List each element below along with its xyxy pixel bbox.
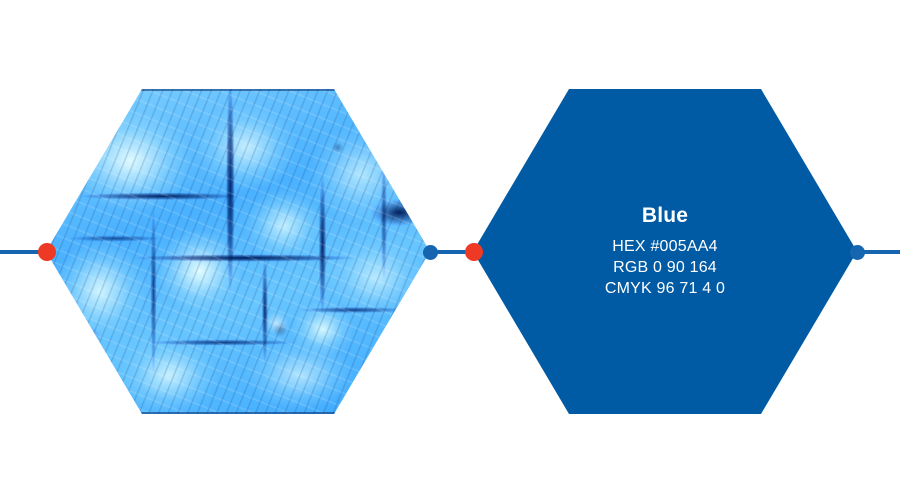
blue-swatch-hexagon[interactable] [473, 89, 857, 414]
color-swatch-canvas: Blue HEX #005AA4 RGB 0 90 164 CMYK 96 71… [0, 0, 900, 504]
swatch-rounded-mask [473, 89, 857, 414]
node-right-blue[interactable] [850, 245, 865, 260]
hexagon-rounded-mask [46, 89, 430, 414]
node-left-red[interactable] [38, 243, 56, 261]
node-mid-blue[interactable] [423, 245, 438, 260]
node-mid-red[interactable] [465, 243, 483, 261]
bubble-foam-hexagon[interactable] [46, 89, 430, 414]
bubble-foam-detail-overlay [46, 89, 430, 414]
